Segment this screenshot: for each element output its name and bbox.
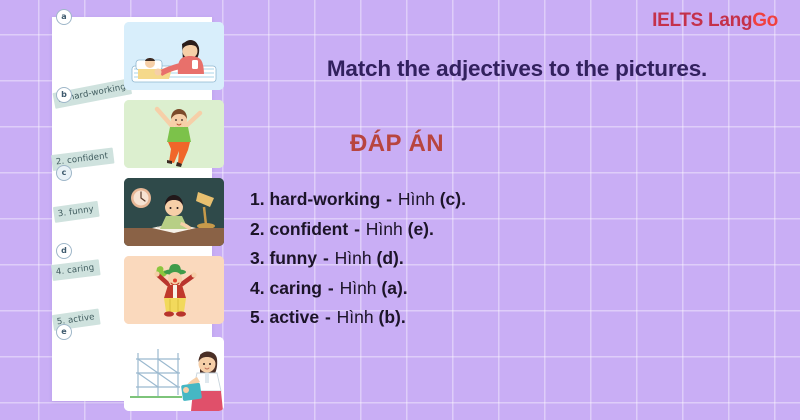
answer-term: 1. hard-working bbox=[250, 189, 380, 209]
illustration-caring bbox=[124, 22, 224, 90]
worksheet-picture-a bbox=[124, 22, 224, 90]
worksheet-label-caring: 4. caring bbox=[51, 259, 100, 281]
answer-label: Hình bbox=[337, 307, 374, 327]
answer-list: 1. hard-working - Hình (c). 2. confident… bbox=[250, 185, 670, 333]
answer-term: 5. active bbox=[250, 307, 319, 327]
picture-badge-e: e bbox=[56, 324, 72, 340]
picture-badge-a: a bbox=[56, 9, 72, 25]
worksheet-picture-b bbox=[124, 100, 224, 168]
answer-row: 5. active - Hình (b). bbox=[250, 303, 670, 333]
worksheet-picture-c bbox=[124, 178, 224, 246]
answer-heading: ĐÁP ÁN bbox=[247, 131, 547, 157]
picture-badge-c: c bbox=[56, 165, 72, 181]
worksheet-label-funny: 3. funny bbox=[53, 201, 100, 223]
answer-row: 2. confident - Hình (e). bbox=[250, 215, 670, 245]
logo-text-accent: Go bbox=[752, 10, 778, 31]
answer-dash: - bbox=[322, 248, 330, 268]
picture-badge-d: d bbox=[56, 243, 72, 259]
illustration-hard-working bbox=[124, 178, 224, 246]
worksheet-picture-d bbox=[124, 256, 224, 324]
illustration-funny bbox=[124, 256, 224, 324]
answer-dash: - bbox=[385, 189, 393, 209]
illustration-confident bbox=[124, 337, 224, 411]
answer-term: 2. confident bbox=[250, 219, 348, 239]
answer-term: 3. funny bbox=[250, 248, 317, 268]
answer-row: 4. caring - Hình (a). bbox=[250, 274, 670, 304]
answer-dash: - bbox=[353, 219, 361, 239]
brand-logo: IELTS LangGo bbox=[652, 11, 778, 30]
answer-label: Hình bbox=[335, 248, 372, 268]
picture-badge-b: b bbox=[56, 87, 72, 103]
answer-reference: (e). bbox=[408, 219, 434, 239]
answer-label: Hình bbox=[366, 219, 403, 239]
illustration-active bbox=[124, 100, 224, 168]
answer-dash: - bbox=[324, 307, 332, 327]
answer-reference: (c). bbox=[440, 189, 466, 209]
worksheet-picture-e bbox=[124, 337, 224, 411]
worksheet-panel: 1. hard-working 2. confident 3. funny 4.… bbox=[52, 17, 212, 401]
answer-row: 1. hard-working - Hình (c). bbox=[250, 185, 670, 215]
answer-row: 3. funny - Hình (d). bbox=[250, 244, 670, 274]
answer-reference: (d). bbox=[377, 248, 404, 268]
answer-label: Hình bbox=[398, 189, 435, 209]
page-title: Match the adjectives to the pictures. bbox=[247, 56, 787, 82]
answer-term: 4. caring bbox=[250, 278, 322, 298]
answer-reference: (b). bbox=[379, 307, 406, 327]
answer-label: Hình bbox=[340, 278, 377, 298]
logo-text-primary: IELTS Lang bbox=[652, 10, 752, 31]
answer-dash: - bbox=[327, 278, 335, 298]
slide-canvas: IELTS LangGo Match the adjectives to the… bbox=[0, 0, 800, 420]
answer-reference: (a). bbox=[381, 278, 407, 298]
